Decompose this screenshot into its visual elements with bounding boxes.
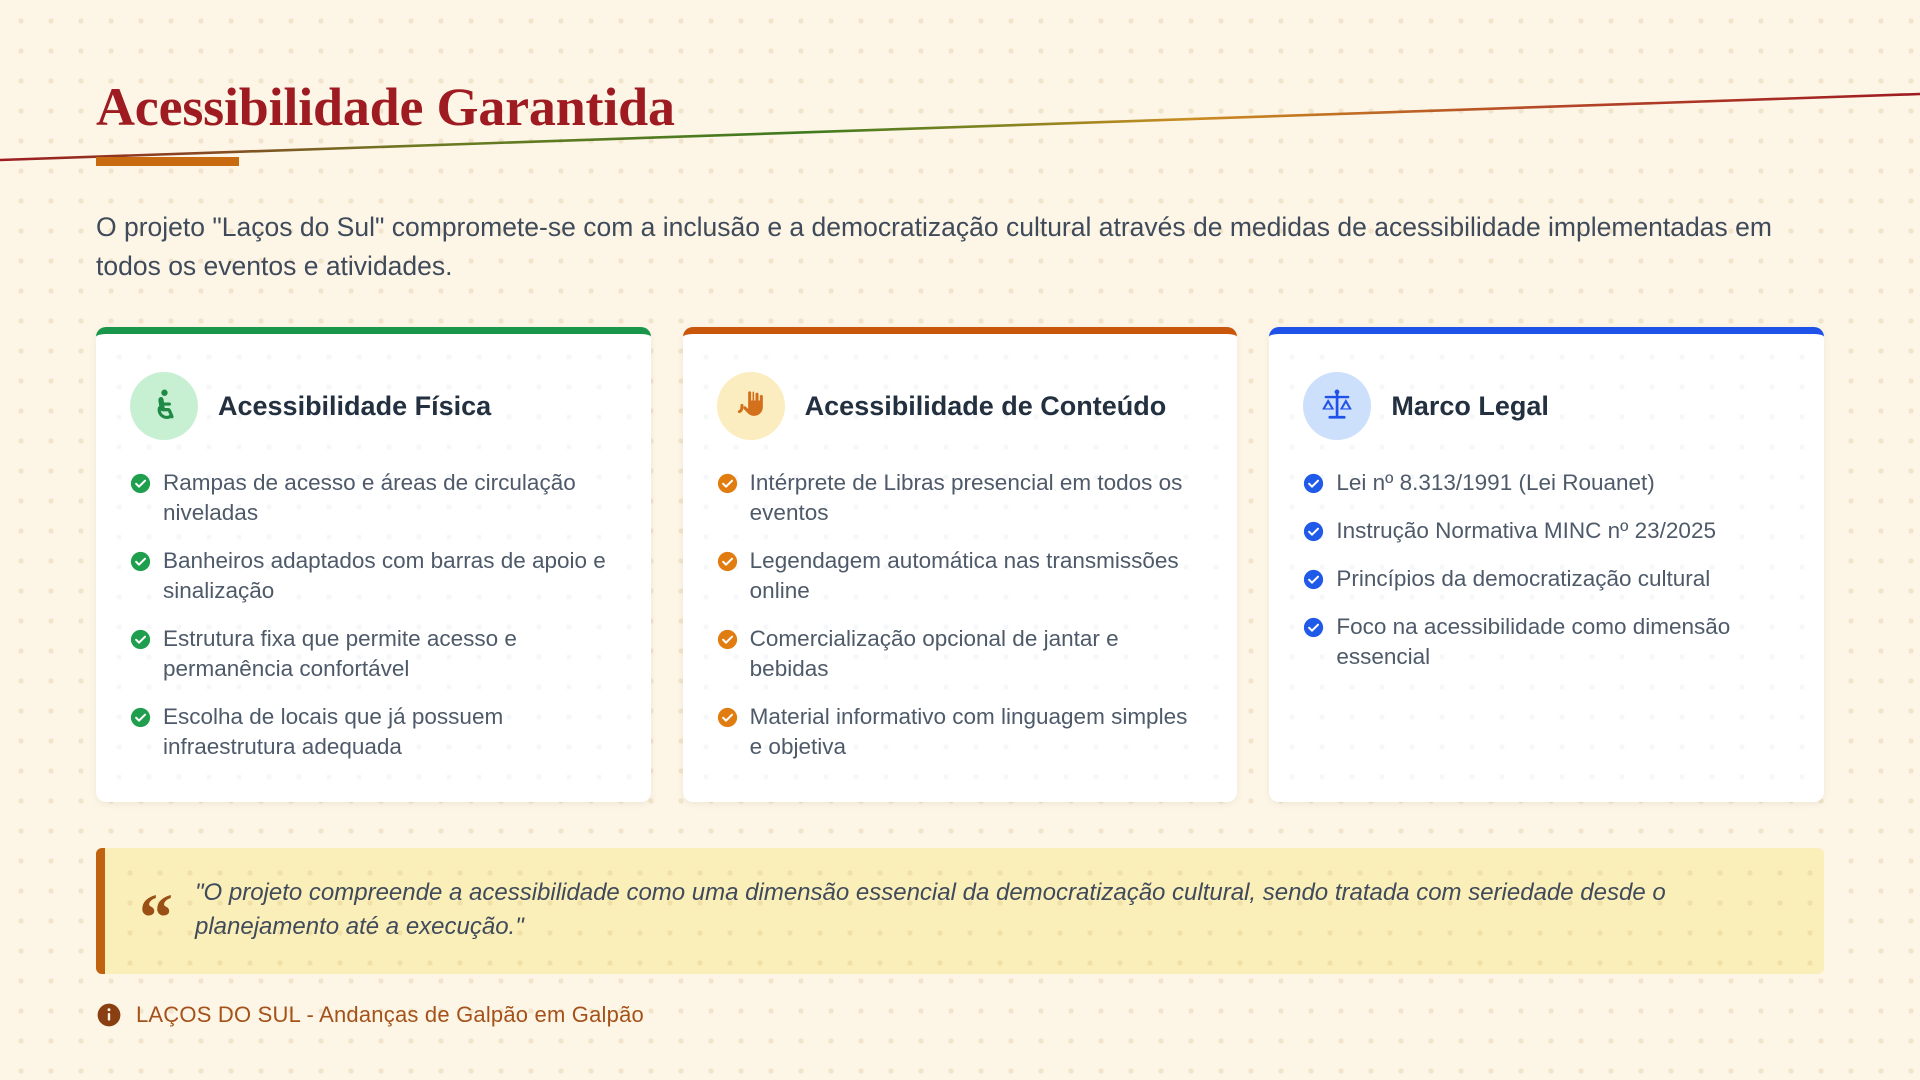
info-circle-icon	[96, 1002, 122, 1028]
check-circle-icon	[717, 551, 738, 572]
highlight-quote-box: “ "O projeto compreende a acessibilidade…	[96, 848, 1824, 974]
check-circle-icon	[130, 629, 151, 650]
list-item: Instrução Normativa MINC nº 23/2025	[1303, 516, 1790, 546]
card-title: Acessibilidade de Conteúdo	[805, 390, 1167, 423]
check-circle-icon	[1303, 473, 1324, 494]
list-item: Lei nº 8.313/1991 (Lei Rouanet)	[1303, 468, 1790, 498]
card-title: Acessibilidade Física	[218, 390, 491, 423]
check-circle-icon	[1303, 569, 1324, 590]
list-item: Comercialização opcional de jantar e beb…	[717, 624, 1204, 684]
check-circle-icon	[1303, 617, 1324, 638]
list-item: Escolha de locais que já possuem infraes…	[130, 702, 617, 762]
list-item-text: Legendagem automática nas transmissões o…	[750, 546, 1204, 606]
list-item-text: Rampas de acesso e áreas de circulação n…	[163, 468, 617, 528]
check-circle-icon	[130, 707, 151, 728]
footer: LAÇOS DO SUL - Andanças de Galpão em Gal…	[96, 1002, 1824, 1028]
list-item: Legendagem automática nas transmissões o…	[717, 546, 1204, 606]
card-acessibilidade-de-conteudo[interactable]: Acessibilidade de Conteúdo Intérprete de…	[683, 327, 1238, 801]
card-acessibilidade-fisica[interactable]: Acessibilidade Física Rampas de acesso e…	[96, 327, 651, 801]
list-item: Princípios da democratização cultural	[1303, 564, 1790, 594]
quote-mark-icon: “	[139, 897, 173, 938]
list-item-text: Intérprete de Libras presencial em todos…	[750, 468, 1204, 528]
list-item-text: Lei nº 8.313/1991 (Lei Rouanet)	[1336, 468, 1654, 498]
list-item-text: Comercialização opcional de jantar e beb…	[750, 624, 1204, 684]
title-underline-rule	[96, 157, 239, 166]
check-circle-icon	[1303, 521, 1324, 542]
check-circle-icon	[130, 551, 151, 572]
check-circle-icon	[717, 629, 738, 650]
wheelchair-accessible-icon	[130, 372, 198, 440]
list-item-text: Estrutura fixa que permite acesso e perm…	[163, 624, 617, 684]
list-item: Rampas de acesso e áreas de circulação n…	[130, 468, 617, 528]
intro-paragraph: O projeto "Laços do Sul" compromete-se c…	[96, 208, 1796, 285]
sign-language-hands-icon	[717, 372, 785, 440]
slide-root: Acessibilidade Garantida O projeto "Laço…	[0, 0, 1920, 1080]
list-item-text: Escolha de locais que já possuem infraes…	[163, 702, 617, 762]
list-item: Estrutura fixa que permite acesso e perm…	[130, 624, 617, 684]
check-circle-icon	[130, 473, 151, 494]
card-feature-list: Rampas de acesso e áreas de circulação n…	[130, 468, 617, 761]
list-item-text: Foco na acessibilidade como dimensão ess…	[1336, 612, 1790, 672]
scales-of-justice-icon	[1303, 372, 1371, 440]
card-header: Marco Legal	[1303, 370, 1790, 442]
card-title: Marco Legal	[1391, 390, 1549, 423]
list-item: Intérprete de Libras presencial em todos…	[717, 468, 1204, 528]
card-header: Acessibilidade Física	[130, 370, 617, 442]
list-item-text: Banheiros adaptados com barras de apoio …	[163, 546, 617, 606]
list-item-text: Material informativo com linguagem simpl…	[750, 702, 1204, 762]
footer-text: LAÇOS DO SUL - Andanças de Galpão em Gal…	[136, 1002, 644, 1028]
card-feature-list: Lei nº 8.313/1991 (Lei Rouanet) Instruçã…	[1303, 468, 1790, 672]
accessibility-cards-row: Acessibilidade Física Rampas de acesso e…	[96, 327, 1824, 801]
list-item: Foco na acessibilidade como dimensão ess…	[1303, 612, 1790, 672]
card-feature-list: Intérprete de Libras presencial em todos…	[717, 468, 1204, 761]
card-marco-legal[interactable]: Marco Legal Lei nº 8.313/1991 (Lei Rouan…	[1269, 327, 1824, 801]
check-circle-icon	[717, 473, 738, 494]
page-title: Acessibilidade Garantida	[96, 78, 1824, 137]
card-header: Acessibilidade de Conteúdo	[717, 370, 1204, 442]
check-circle-icon	[717, 707, 738, 728]
list-item-text: Princípios da democratização cultural	[1336, 564, 1710, 594]
quote-text: "O projeto compreende a acessibilidade c…	[195, 876, 1784, 944]
list-item-text: Instrução Normativa MINC nº 23/2025	[1336, 516, 1716, 546]
list-item: Banheiros adaptados com barras de apoio …	[130, 546, 617, 606]
list-item: Material informativo com linguagem simpl…	[717, 702, 1204, 762]
